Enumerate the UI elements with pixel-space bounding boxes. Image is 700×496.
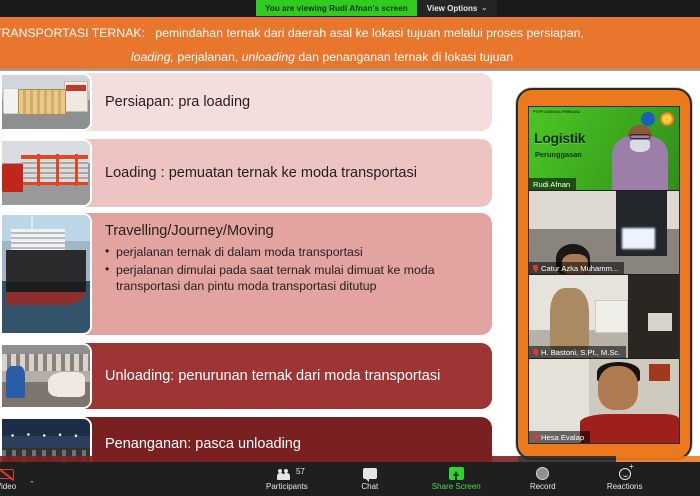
step-title-penanganan: Penanganan: pasca unloading (105, 435, 474, 454)
share-screen-button[interactable]: Share Screen (426, 467, 487, 492)
slide-header-definition: pemindahan ternak dari daerah asal ke lo… (155, 26, 584, 40)
step-title-persiapan: Persiapan: pra loading (105, 93, 474, 112)
record-icon (536, 467, 549, 480)
virtual-bg-title: Logistik (534, 130, 585, 146)
participants-icon: 57 (277, 468, 297, 480)
chat-bubble-icon (363, 468, 377, 479)
video-tile-h-bastoni[interactable]: H. Bastoni, S.Pt., M.Sc. (529, 275, 679, 359)
slide-header-loading-italic: loading, (131, 50, 174, 64)
toolbar-left-group: Video ⌃ (0, 467, 250, 492)
chat-label: Chat (361, 482, 378, 492)
workers-unloading-livestock-photo (0, 343, 92, 409)
participant-video-panel[interactable]: PT.PP UNGGAS PERKASA Logistik Perunggasa… (516, 88, 692, 460)
step-block-loading: Loading : pemuatan ternak ke moda transp… (0, 139, 492, 207)
viewing-screen-notice: You are viewing Rudi Afnan's screen (256, 0, 417, 16)
screen-share-banner: You are viewing Rudi Afnan's screen View… (256, 0, 497, 16)
travelling-bullet-list: perjalanan ternak di dalam moda transpor… (105, 243, 474, 295)
toolbar-top-edge (0, 456, 700, 462)
muted-mic-icon (533, 349, 538, 356)
participant-name-2: Catur Azka Muhamm... (541, 264, 618, 273)
slide-header-term: TRANSPORTASI TERNAK: (0, 26, 145, 40)
step-title-unloading: Unloading: penurunan ternak dari moda tr… (105, 367, 474, 386)
video-tile-name-label-4: Hesa Evalap (529, 431, 590, 443)
virtual-bg-header: PT.PP UNGGAS PERKASA (533, 110, 580, 114)
company-seal-logo-icon (660, 112, 674, 126)
slide-header-line-2: loading, perjalanan, unloading dan penan… (0, 45, 692, 69)
video-tile-stack: PT.PP UNGGAS PERKASA Logistik Perunggasa… (528, 106, 680, 444)
reactions-button[interactable]: Reactions (599, 467, 651, 492)
step-title-loading: Loading : pemuatan ternak ke moda transp… (105, 164, 474, 183)
reactions-smiley-icon (619, 468, 631, 480)
slide-header-banner: TRANSPORTASI TERNAK: pemindahan ternak d… (0, 17, 700, 71)
step-title-travelling: Travelling/Journey/Moving (105, 222, 474, 241)
slide-header-line-1: TRANSPORTASI TERNAK: pemindahan ternak d… (0, 21, 692, 45)
video-tile-catur-azka[interactable]: Catur Azka Muhamm... (529, 191, 679, 275)
video-tile-rudi-afnan[interactable]: PT.PP UNGGAS PERKASA Logistik Perunggasa… (529, 107, 679, 191)
cargo-ship-at-port-photo (0, 213, 92, 335)
participant-name-3: H. Bastoni, S.Pt., M.Sc. (541, 348, 620, 357)
presenter-webcam-figure (611, 125, 669, 190)
red-livestock-truck-photo (0, 139, 92, 207)
video-toggle-button[interactable]: Video (0, 467, 26, 492)
view-options-label: View Options (427, 4, 478, 13)
reactions-label: Reactions (607, 482, 643, 492)
travelling-bullet-2: perjalanan dimulai pada saat ternak mula… (105, 262, 474, 295)
travelling-bullet-1: perjalanan ternak di dalam moda transpor… (105, 244, 474, 261)
muted-mic-icon (533, 434, 538, 441)
video-tile-name-label-1: Rudi Afnan (529, 178, 576, 190)
participants-count: 57 (296, 467, 305, 476)
participants-button[interactable]: 57 Participants (260, 467, 314, 492)
muted-mic-icon (533, 265, 538, 272)
slide-header-perjalanan: perjalanan, (177, 50, 238, 64)
video-off-icon (0, 469, 14, 479)
slide-header-unloading-italic: unloading (242, 50, 295, 64)
share-screen-label: Share Screen (432, 482, 481, 492)
step-block-unloading: Unloading: penurunan ternak dari moda tr… (0, 343, 492, 409)
participant-name-4: Hesa Evalap (541, 433, 584, 442)
video-toggle-label: Video (0, 482, 16, 492)
slide-header-tail: dan penanganan ternak di lokasi tujuan (298, 50, 513, 64)
video-tile-name-label-2: Catur Azka Muhamm... (529, 262, 624, 274)
share-screen-icon (449, 467, 464, 480)
video-tile-name-label-3: H. Bastoni, S.Pt., M.Sc. (529, 346, 626, 358)
participants-label: Participants (266, 482, 308, 492)
view-options-button[interactable]: View Options ⌄ (417, 0, 497, 16)
chevron-down-icon: ⌄ (481, 4, 487, 12)
record-button[interactable]: Record (517, 467, 569, 492)
step-block-persiapan: Persiapan: pra loading (0, 73, 492, 131)
toolbar-center-group: 57 Participants Chat Share Screen Record… (260, 467, 651, 492)
zoom-meeting-window: You are viewing Rudi Afnan's screen View… (0, 0, 700, 496)
chat-button[interactable]: Chat (344, 467, 396, 492)
video-tile-hesa-evalap[interactable]: Hesa Evalap (529, 359, 679, 443)
meeting-toolbar: Video ⌃ 57 Participants Chat Sh (0, 462, 700, 496)
record-label: Record (530, 482, 556, 492)
participant-name-1: Rudi Afnan (533, 180, 570, 189)
truck-with-crates-photo (0, 73, 92, 131)
step-block-travelling: Travelling/Journey/Moving perjalanan ter… (0, 213, 492, 335)
facebook-logo-icon (641, 112, 655, 126)
video-options-caret-icon[interactable]: ⌃ (29, 480, 35, 488)
virtual-bg-subtitle: Perunggasan (535, 150, 582, 159)
